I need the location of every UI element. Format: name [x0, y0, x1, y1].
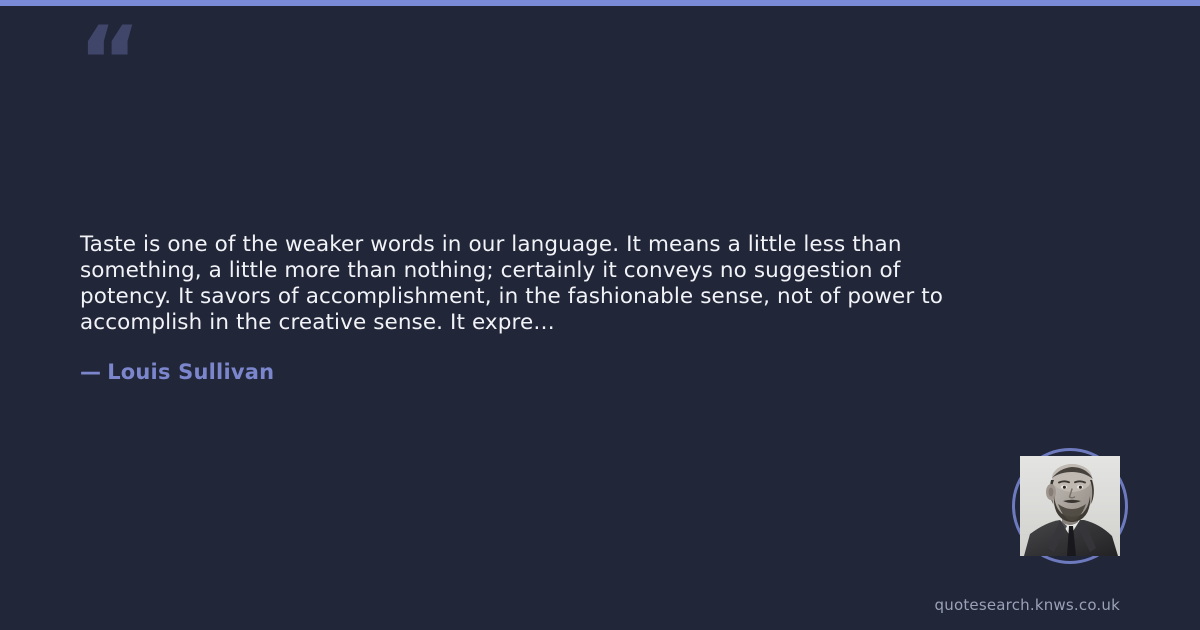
open-quote-icon: “: [78, 14, 139, 110]
author-portrait: [1020, 456, 1120, 556]
quote-card: “ Taste is one of the weaker words in ou…: [0, 6, 1200, 630]
quote-text: Taste is one of the weaker words in our …: [80, 232, 990, 336]
portrait-photo: [1020, 456, 1120, 556]
em-dash-icon: —: [80, 360, 101, 384]
source-url: quotesearch.knws.co.uk: [935, 596, 1120, 614]
author-attribution: —Louis Sullivan: [80, 360, 274, 384]
author-name: Louis Sullivan: [107, 360, 274, 384]
